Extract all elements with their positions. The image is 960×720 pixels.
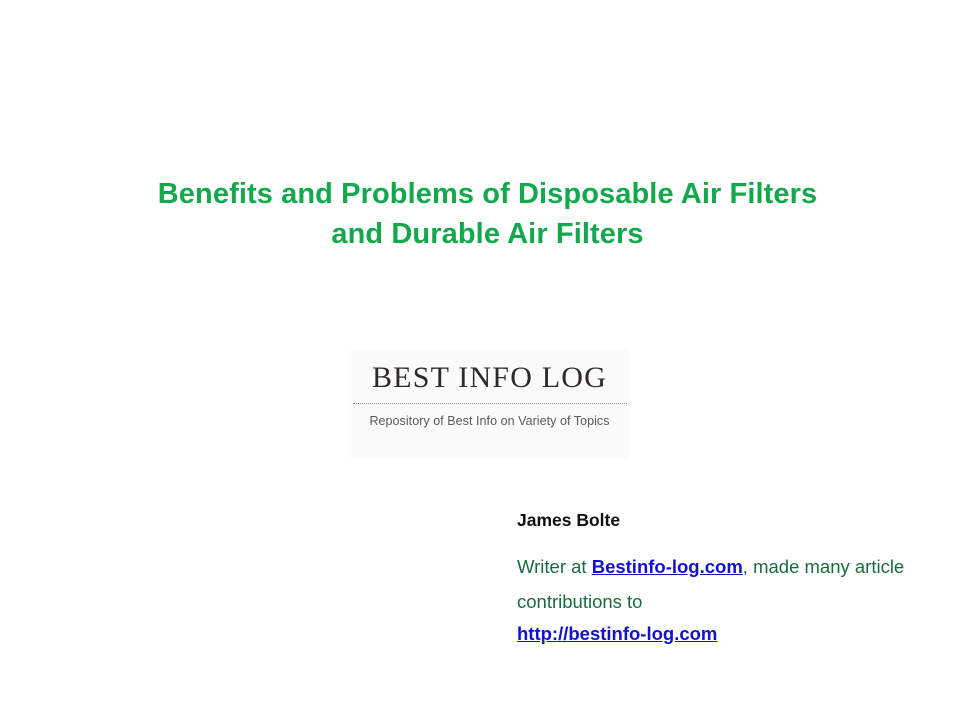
logo-tagline: Repository of Best Info on Variety of To…	[350, 413, 629, 429]
website-url-link[interactable]: http://bestinfo-log.com	[517, 619, 937, 649]
byline-paragraph: Writer at Bestinfo-log.com, made many ar…	[517, 549, 937, 619]
logo-divider	[353, 403, 627, 404]
author-name: James Bolte	[517, 508, 937, 532]
bestinfo-log-link[interactable]: Bestinfo-log.com	[592, 556, 743, 577]
byline-suffix-text: , made many	[743, 556, 850, 577]
title-line-1: Benefits and Problems of Disposable Air …	[60, 174, 915, 214]
byline-prefix-text: Writer at	[517, 556, 592, 577]
presentation-slide: Benefits and Problems of Disposable Air …	[0, 0, 960, 720]
title-line-2: and Durable Air Filters	[60, 214, 915, 254]
logo-heading: BEST INFO LOG	[350, 362, 629, 394]
author-byline-block: James Bolte Writer at Bestinfo-log.com, …	[517, 508, 937, 649]
best-info-log-logo: BEST INFO LOG Repository of Best Info on…	[350, 349, 629, 459]
page-title: Benefits and Problems of Disposable Air …	[60, 174, 915, 254]
